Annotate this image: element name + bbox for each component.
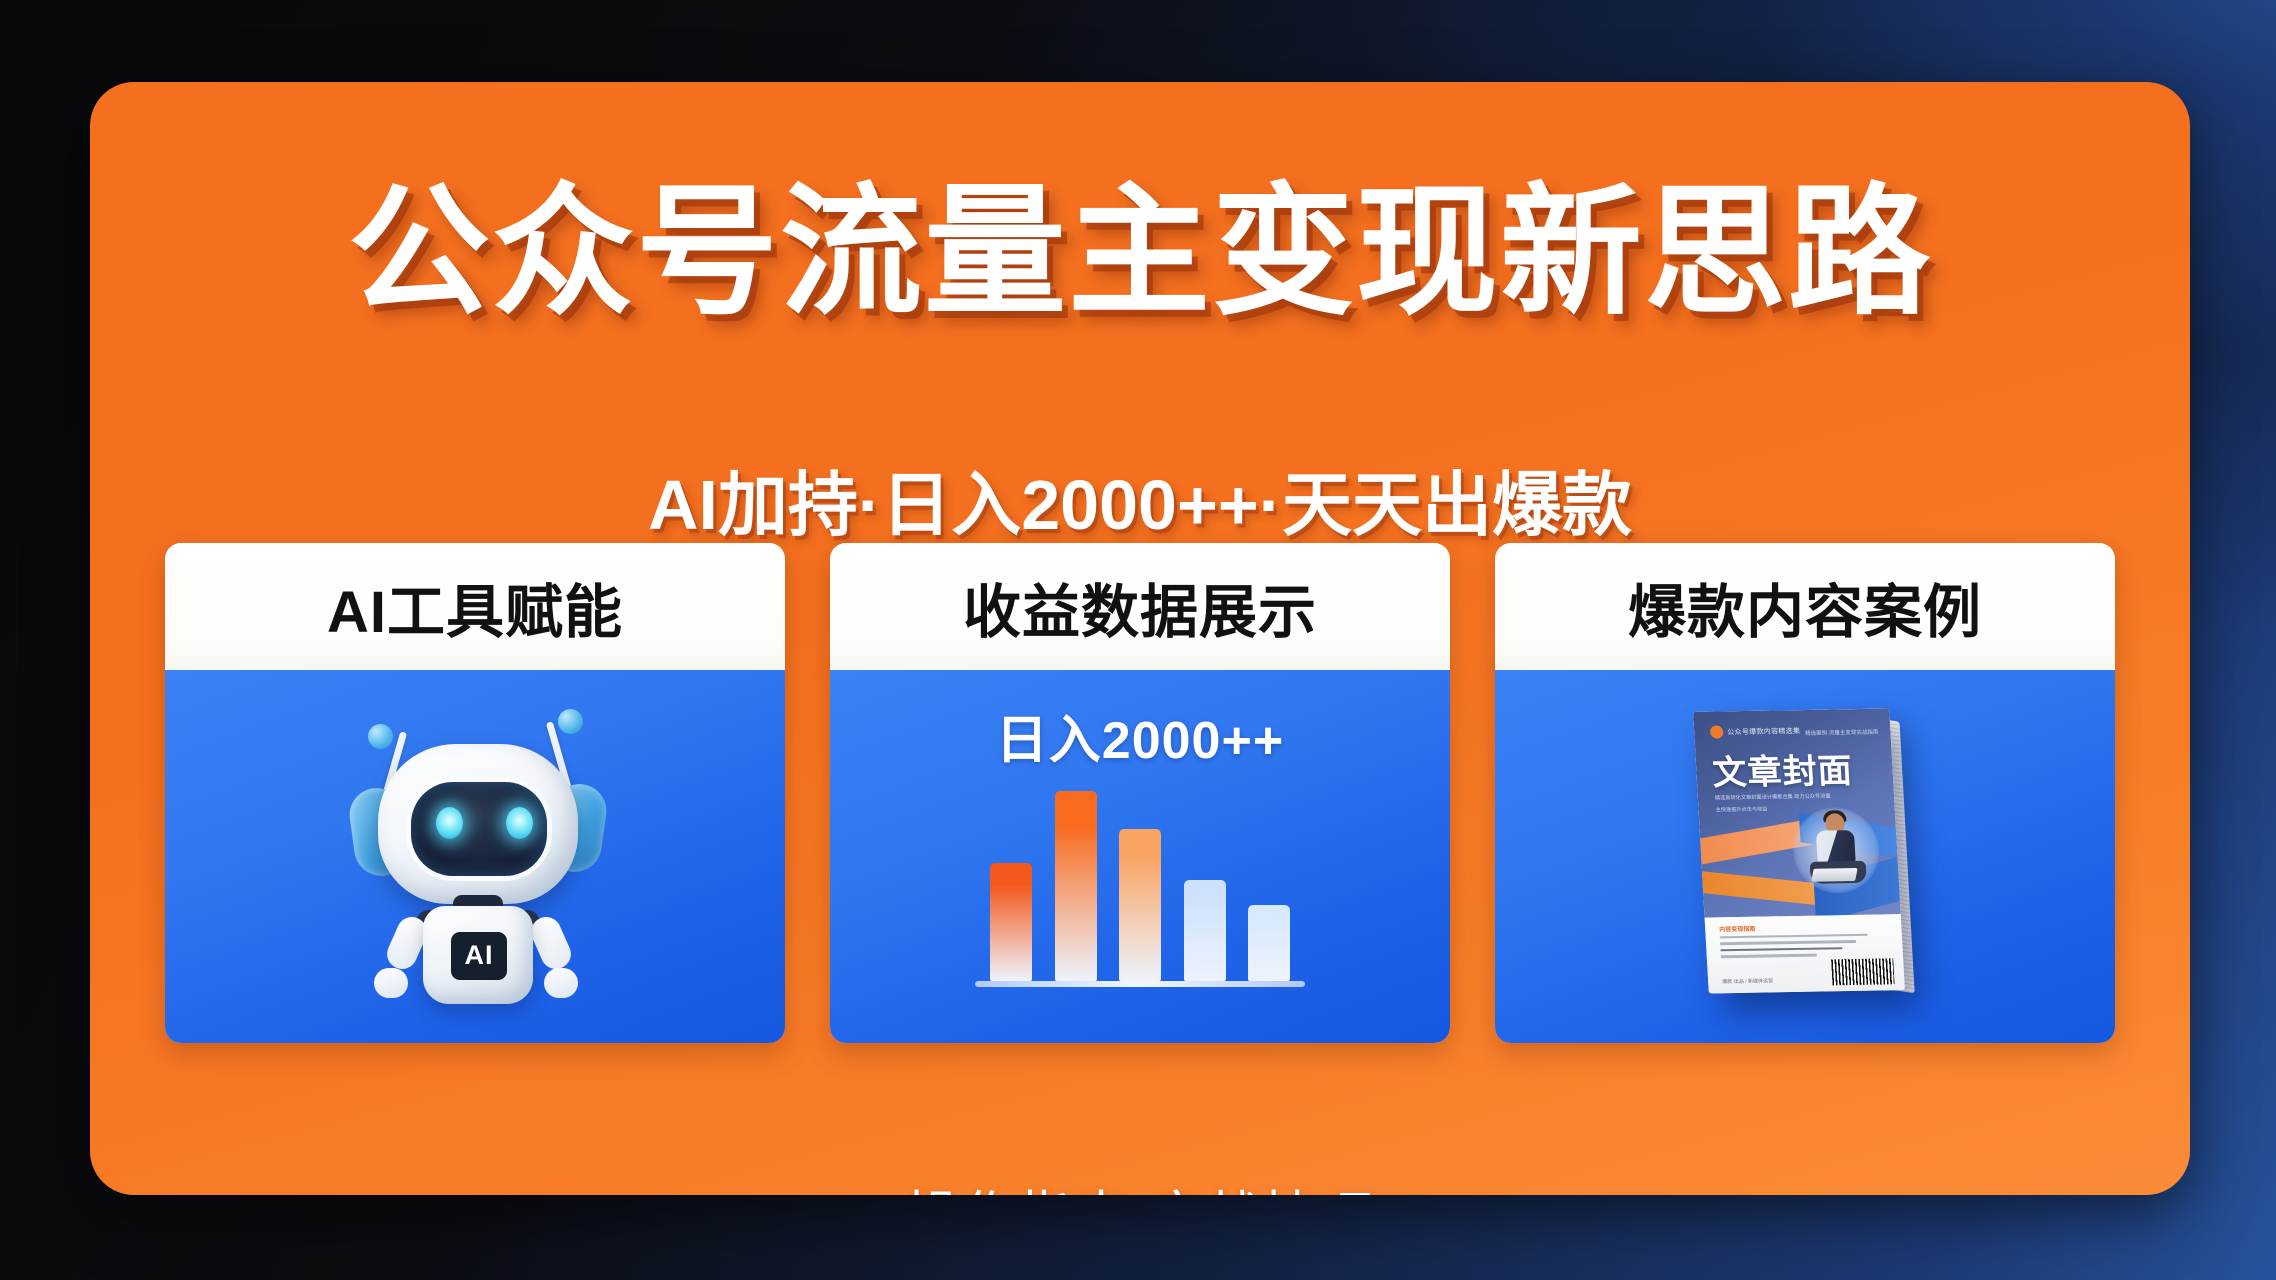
chart-bar [1119,829,1161,981]
chart-bar [1055,791,1097,981]
robot-hand-left-icon [374,968,408,998]
chart-bar [990,863,1032,981]
card-hit-content-title: 爆款内容案例 [1628,565,1982,649]
poster-canvas: 公众号流量主变现新思路 AI加持·日入2000++·天天出爆款 AI工具赋能 [0,0,2276,1280]
book-logo-icon [1710,725,1724,738]
book-cover-mockup: 公众号爆款内容精选集 精选案例·流量主变现实战指南 文章封面 精选高转化文章封面… [1655,692,1955,1022]
barcode-icon [1831,958,1894,985]
person-body-icon [1816,830,1856,865]
book-brand-text: 公众号爆款内容精选集 [1727,726,1801,737]
ai-robot-icon: AI [310,692,640,1022]
book-back-line [1720,946,1842,951]
book-back-line [1720,940,1856,945]
book-meta-text: 精选案例·流量主变现实战指南 [1805,728,1879,739]
card-revenue-data-header: 收益数据展示 [830,543,1450,670]
robot-antenna-ball-right-icon [558,709,583,734]
page-subtitle: AI加持·日入2000++·天天出爆款 [90,470,2190,540]
card-ai-tools[interactable]: AI工具赋能 [165,543,785,1043]
revenue-bar-chart: 日入2000++ [830,670,1450,1043]
book-title: 文章封面 [1711,743,1854,794]
chart-bar [1184,880,1226,981]
card-ai-tools-body: AI [165,670,785,1043]
robot-hand-right-icon [544,968,578,998]
robot-chest-badge: AI [451,932,507,980]
book-back-cover: 内容变现指南 爆款·出品 / 新媒体运营 [1705,914,1905,993]
book-front-cover: 公众号爆款内容精选集 精选案例·流量主变现实战指南 文章封面 精选高转化文章封面… [1693,708,1905,993]
card-revenue-data-title: 收益数据展示 [963,565,1317,649]
book-back-line [1720,933,1868,938]
book-back-tag: 内容变现指南 [1719,923,1756,933]
chart-bar [1248,905,1290,981]
card-ai-tools-header: AI工具赋能 [165,543,785,670]
book-back-text-lines [1720,933,1872,961]
chart-bars [990,791,1290,981]
book-subtitle: 精选高转化文章封面设计模板合集 助力公众号流量主快速提升点击与收益 [1715,791,1836,817]
card-hit-content-header: 爆款内容案例 [1495,543,2115,670]
book-publisher: 爆款·出品 / 新媒体运营 [1722,977,1773,985]
feature-card-row: AI工具赋能 [165,543,2115,1043]
book-cover-art: 公众号爆款内容精选集 精选案例·流量主变现实战指南 文章封面 精选高转化文章封面… [1693,708,1901,917]
orange-poster-panel: 公众号流量主变现新思路 AI加持·日入2000++·天天出爆款 AI工具赋能 [90,82,2190,1195]
book-back-line [1721,953,1817,957]
card-hit-content-body: 公众号爆款内容精选集 精选案例·流量主变现实战指南 文章封面 精选高转化文章封面… [1495,670,2115,1043]
chart-title: 日入2000++ [996,698,1284,773]
robot-eye-left-icon [436,807,463,839]
robot-antenna-ball-left-icon [368,724,393,749]
poster-footer: 操作指南·实战技巧 [90,1172,2190,1195]
robot-eye-right-icon [506,807,533,839]
page-title: 公众号流量主变现新思路 [90,182,2190,324]
card-revenue-data[interactable]: 收益数据展示 日入2000++ [830,543,1450,1043]
book-person-illustration [1795,812,1874,899]
card-ai-tools-title: AI工具赋能 [327,565,623,649]
card-revenue-data-body: 日入2000++ [830,670,1450,1043]
card-hit-content[interactable]: 爆款内容案例 [1495,543,2115,1043]
person-laptop-icon [1811,867,1858,881]
chart-baseline [975,981,1305,987]
